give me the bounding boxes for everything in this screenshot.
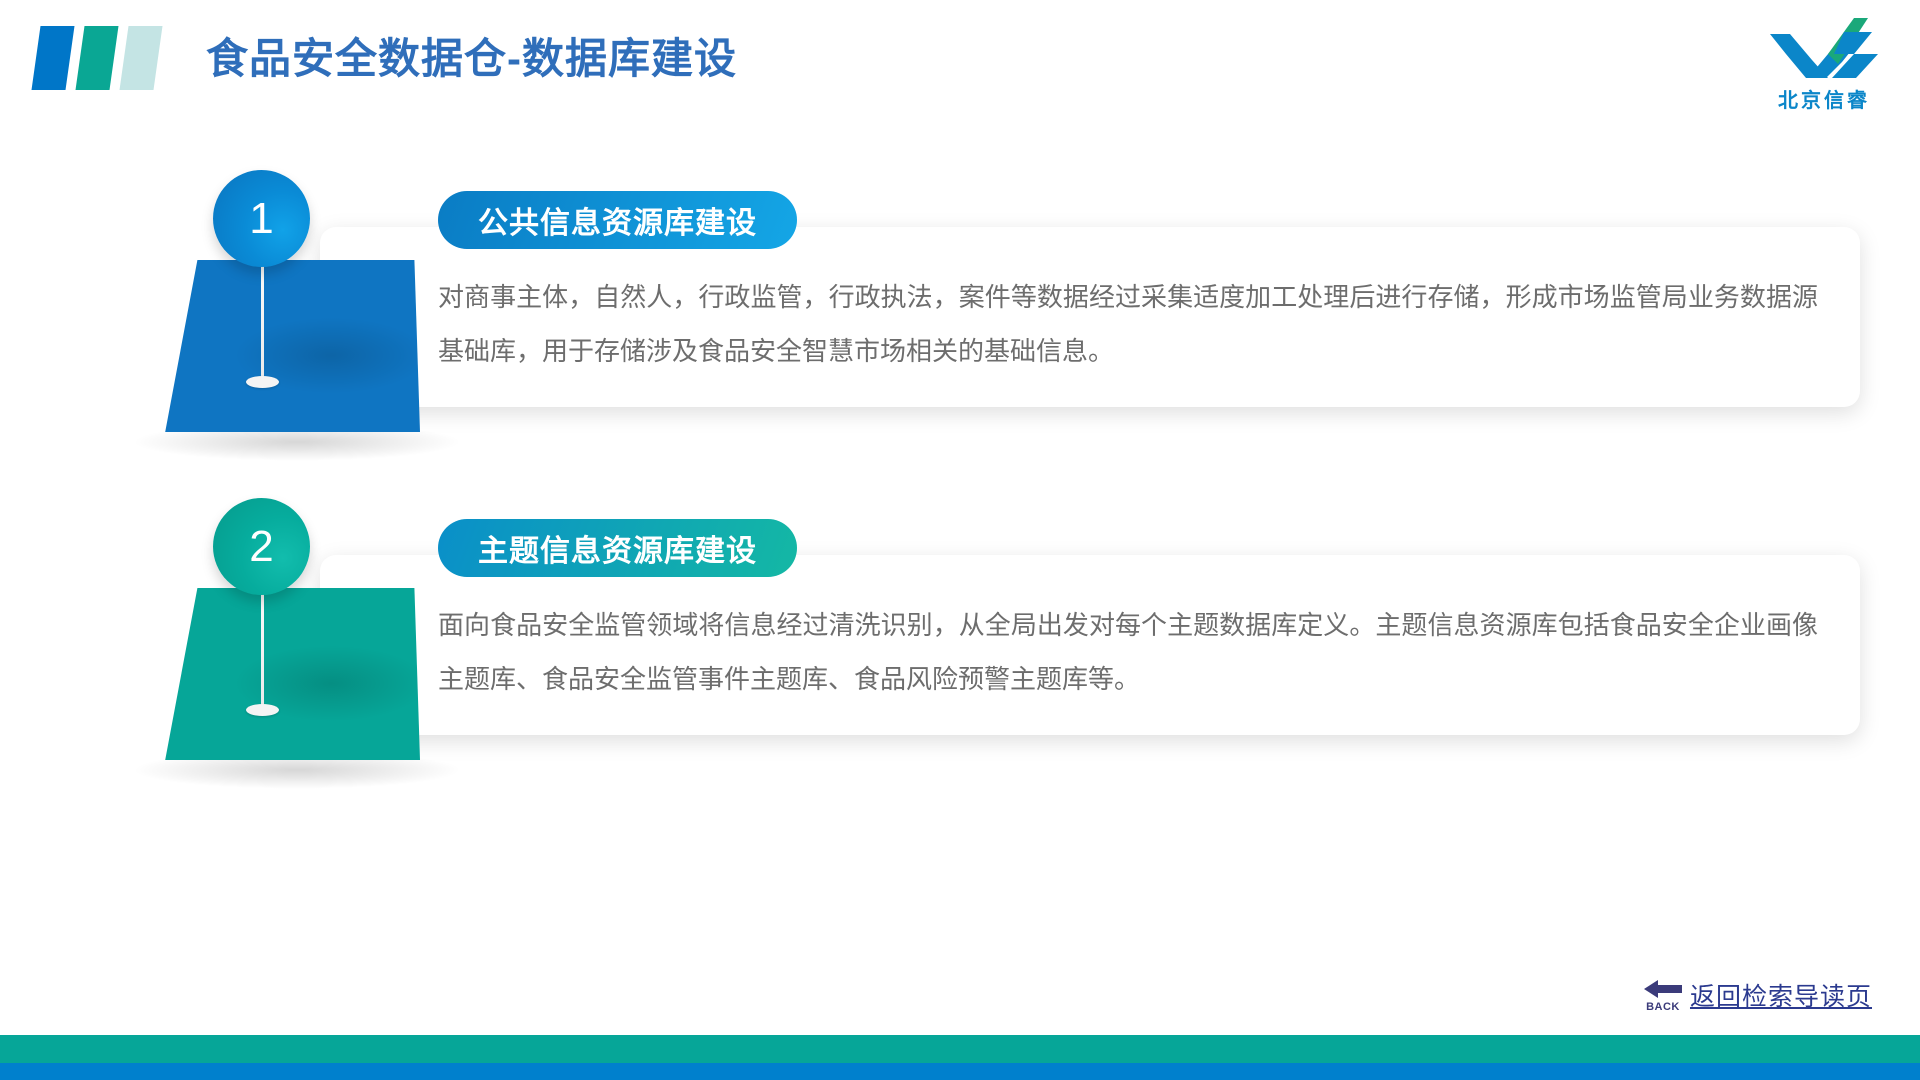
pin-stem (261, 583, 264, 711)
pin-stem (261, 255, 264, 383)
page-header: 食品安全数据仓-数据库建设 北京信睿 (0, 0, 1920, 140)
header-accent-bars (34, 26, 174, 90)
podium-platform (140, 588, 420, 760)
pin-base-ellipse (246, 376, 279, 388)
accent-bar-blue (32, 26, 75, 90)
step-badge-1[interactable]: 1 (213, 170, 310, 267)
arrow-left-icon (1642, 978, 1684, 1000)
accent-bar-teal (76, 26, 119, 90)
back-arrow-icon[interactable]: BACK (1642, 978, 1684, 1012)
pin-base-ellipse (246, 704, 279, 716)
section-body-2: 面向食品安全监管领域将信息经过清洗识别，从全局出发对每个主题数据库定义。主题信息… (438, 598, 1818, 706)
company-logo: 北京信睿 (1760, 14, 1888, 118)
footer-bar-teal (0, 1035, 1920, 1063)
section-body-1: 对商事主体，自然人，行政监管，行政执法，案件等数据经过采集适度加工处理后进行存储… (438, 270, 1818, 378)
xr-logo-mark-icon (1768, 14, 1880, 80)
footer-bar-blue (0, 1063, 1920, 1080)
pill-heading-1[interactable]: 公共信息资源库建设 (438, 191, 797, 249)
back-icon-caption: BACK (1642, 1001, 1684, 1013)
pill-heading-2[interactable]: 主题信息资源库建设 (438, 519, 797, 577)
step-badge-2[interactable]: 2 (213, 498, 310, 595)
back-link-label[interactable]: 返回检索导读页 (1690, 982, 1872, 1012)
accent-bar-light (120, 26, 163, 90)
podium-platform (140, 260, 420, 432)
page-title: 食品安全数据仓-数据库建设 (206, 30, 737, 88)
back-link[interactable]: BACK 返回检索导读页 (1642, 978, 1872, 1012)
logo-text: 北京信睿 (1760, 84, 1888, 113)
